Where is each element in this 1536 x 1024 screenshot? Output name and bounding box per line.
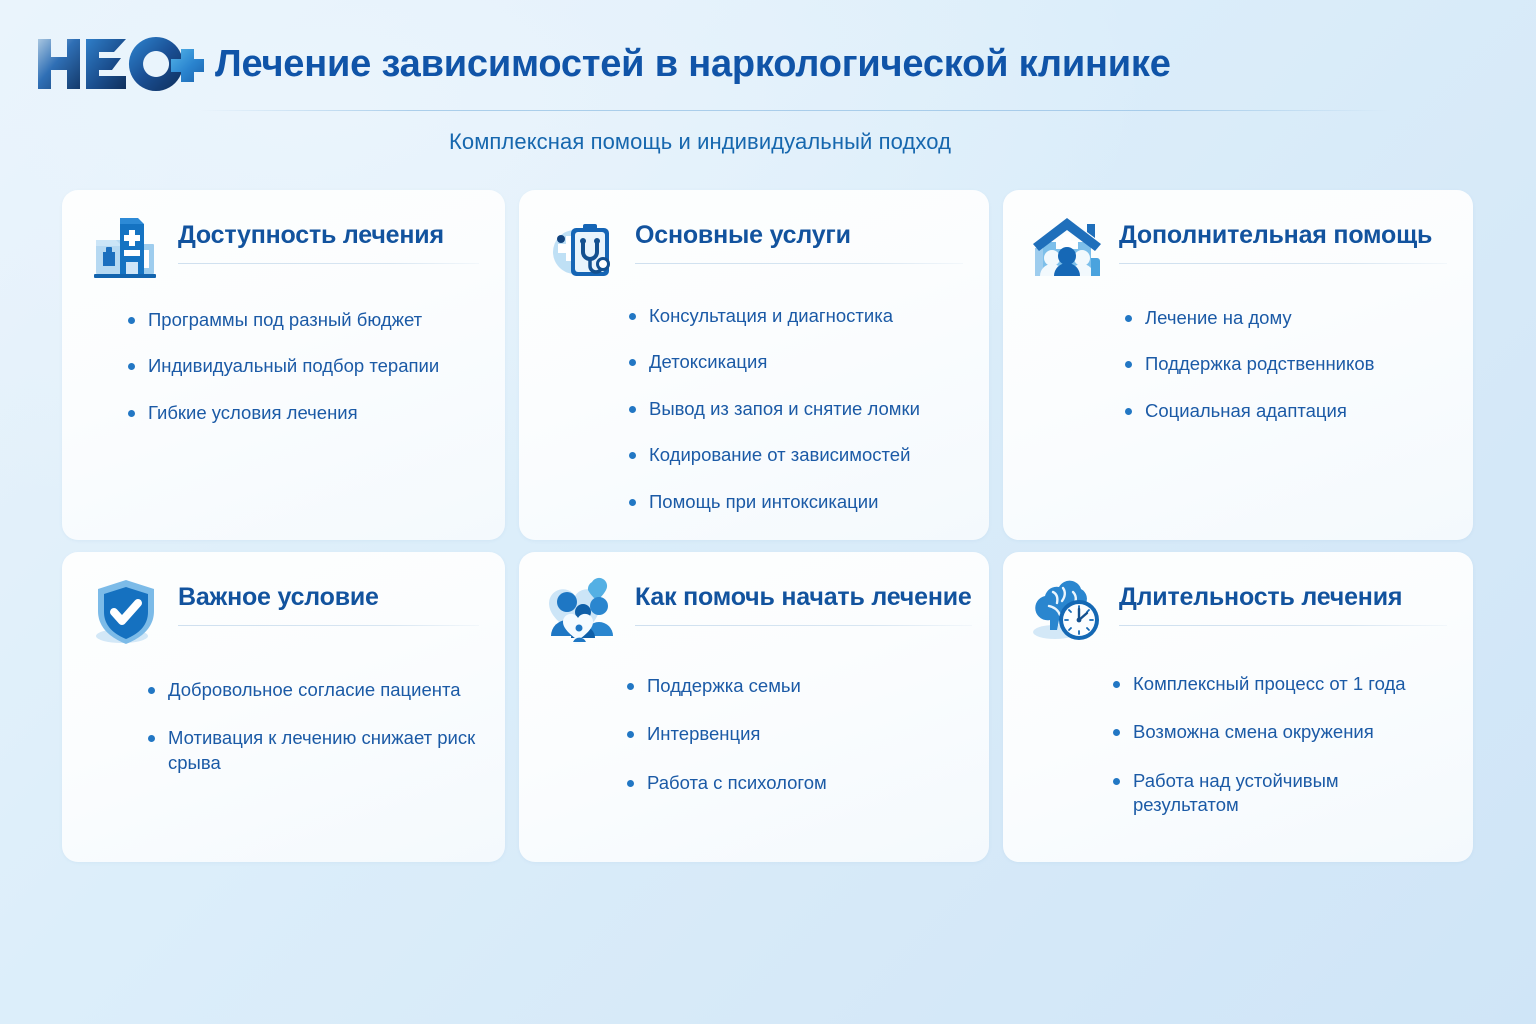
list-item: Консультация и диагностика (629, 304, 963, 328)
list-item: Работа с психологом (627, 771, 963, 795)
card-list: Программы под разный бюджет Индивидуальн… (88, 308, 479, 425)
list-item: Детоксикация (629, 350, 963, 374)
card-title-wrap: Доступность лечения (178, 212, 479, 264)
card-header: Важное условие (88, 574, 479, 648)
title-divider (1119, 263, 1447, 264)
card-list: Консультация и диагностика Детоксикация … (545, 304, 963, 514)
neo-logo-icon (34, 33, 206, 95)
page-header: Лечение зависимостей в наркологической к… (0, 0, 1536, 175)
page-title: Лечение зависимостей в наркологической к… (215, 43, 1171, 86)
clipboard-stethoscope-icon (545, 214, 621, 286)
list-item: Возможна смена окружения (1113, 720, 1447, 744)
hospital-icon (88, 214, 164, 286)
list-item: Мотивация к лечению снижает риск срыва (148, 726, 479, 775)
family-heart-icon (545, 576, 621, 648)
card-title: Как помочь начать лечение (635, 584, 972, 612)
list-item: Гибкие условия лечения (128, 401, 479, 425)
list-item: Программы под разный бюджет (128, 308, 479, 332)
list-item: Работа над устойчивым результатом (1113, 769, 1447, 818)
list-item: Интервенция (627, 722, 963, 746)
card-list: Комплексный процесс от 1 года Возможна с… (1029, 672, 1447, 818)
card-kak-pomoch-nachat-lechenie: Как помочь начать лечение Поддержка семь… (519, 552, 989, 862)
card-header: Как помочь начать лечение (545, 574, 963, 648)
card-title-wrap: Дополнительная помощь (1119, 212, 1447, 264)
card-vazhnoe-uslovie: Важное условие Добровольное согласие пац… (62, 552, 505, 862)
title-divider (635, 263, 963, 264)
cards-grid: Доступность лечения Программы под разный… (62, 190, 1474, 862)
card-dopolnitelnaya-pomoshch: Дополнительная помощь Лечение на дому По… (1003, 190, 1473, 540)
shield-check-icon (88, 576, 164, 648)
card-dostupnost-lecheniya: Доступность лечения Программы под разный… (62, 190, 505, 540)
neo-logo (34, 33, 206, 95)
card-title: Основные услуги (635, 222, 963, 250)
card-title: Дополнительная помощь (1119, 222, 1447, 250)
list-item: Помощь при интоксикации (629, 490, 963, 514)
card-list: Добровольное согласие пациента Мотивация… (88, 678, 479, 775)
brain-clock-icon (1029, 576, 1105, 648)
header-divider (200, 110, 1390, 111)
list-item: Поддержка родственников (1125, 352, 1447, 376)
card-header: Доступность лечения (88, 212, 479, 286)
card-title: Доступность лечения (178, 222, 479, 250)
list-item: Кодирование от зависимостей (629, 443, 963, 467)
page-subtitle: Комплексная помощь и индивидуальный подх… (0, 129, 1400, 155)
card-header: Длительность лечения (1029, 574, 1447, 648)
list-item: Лечение на дому (1125, 306, 1447, 330)
card-title: Важное условие (178, 584, 479, 612)
list-item: Индивидуальный подбор терапии (128, 354, 479, 378)
list-item: Добровольное согласие пациента (148, 678, 479, 702)
list-item: Социальная адаптация (1125, 399, 1447, 423)
card-title-wrap: Длительность лечения (1119, 574, 1447, 626)
card-title: Длительность лечения (1119, 584, 1447, 612)
card-header: Основные услуги (545, 212, 963, 286)
card-title-wrap: Важное условие (178, 574, 479, 626)
card-header: Дополнительная помощь (1029, 212, 1447, 286)
home-care-icon (1029, 214, 1105, 286)
list-item: Комплексный процесс от 1 года (1113, 672, 1447, 696)
title-divider (178, 263, 479, 264)
card-list: Поддержка семьи Интервенция Работа с пси… (545, 674, 963, 795)
title-divider (178, 625, 479, 626)
title-divider (635, 625, 972, 626)
list-item: Поддержка семьи (627, 674, 963, 698)
title-divider (1119, 625, 1447, 626)
card-title-wrap: Основные услуги (635, 212, 963, 264)
card-dlitelnost-lecheniya: Длительность лечения Комплексный процесс… (1003, 552, 1473, 862)
card-list: Лечение на дому Поддержка родственников … (1029, 306, 1447, 423)
card-osnovnye-uslugi: Основные услуги Консультация и диагности… (519, 190, 989, 540)
list-item: Вывод из запоя и снятие ломки (629, 397, 963, 421)
card-title-wrap: Как помочь начать лечение (635, 574, 972, 626)
